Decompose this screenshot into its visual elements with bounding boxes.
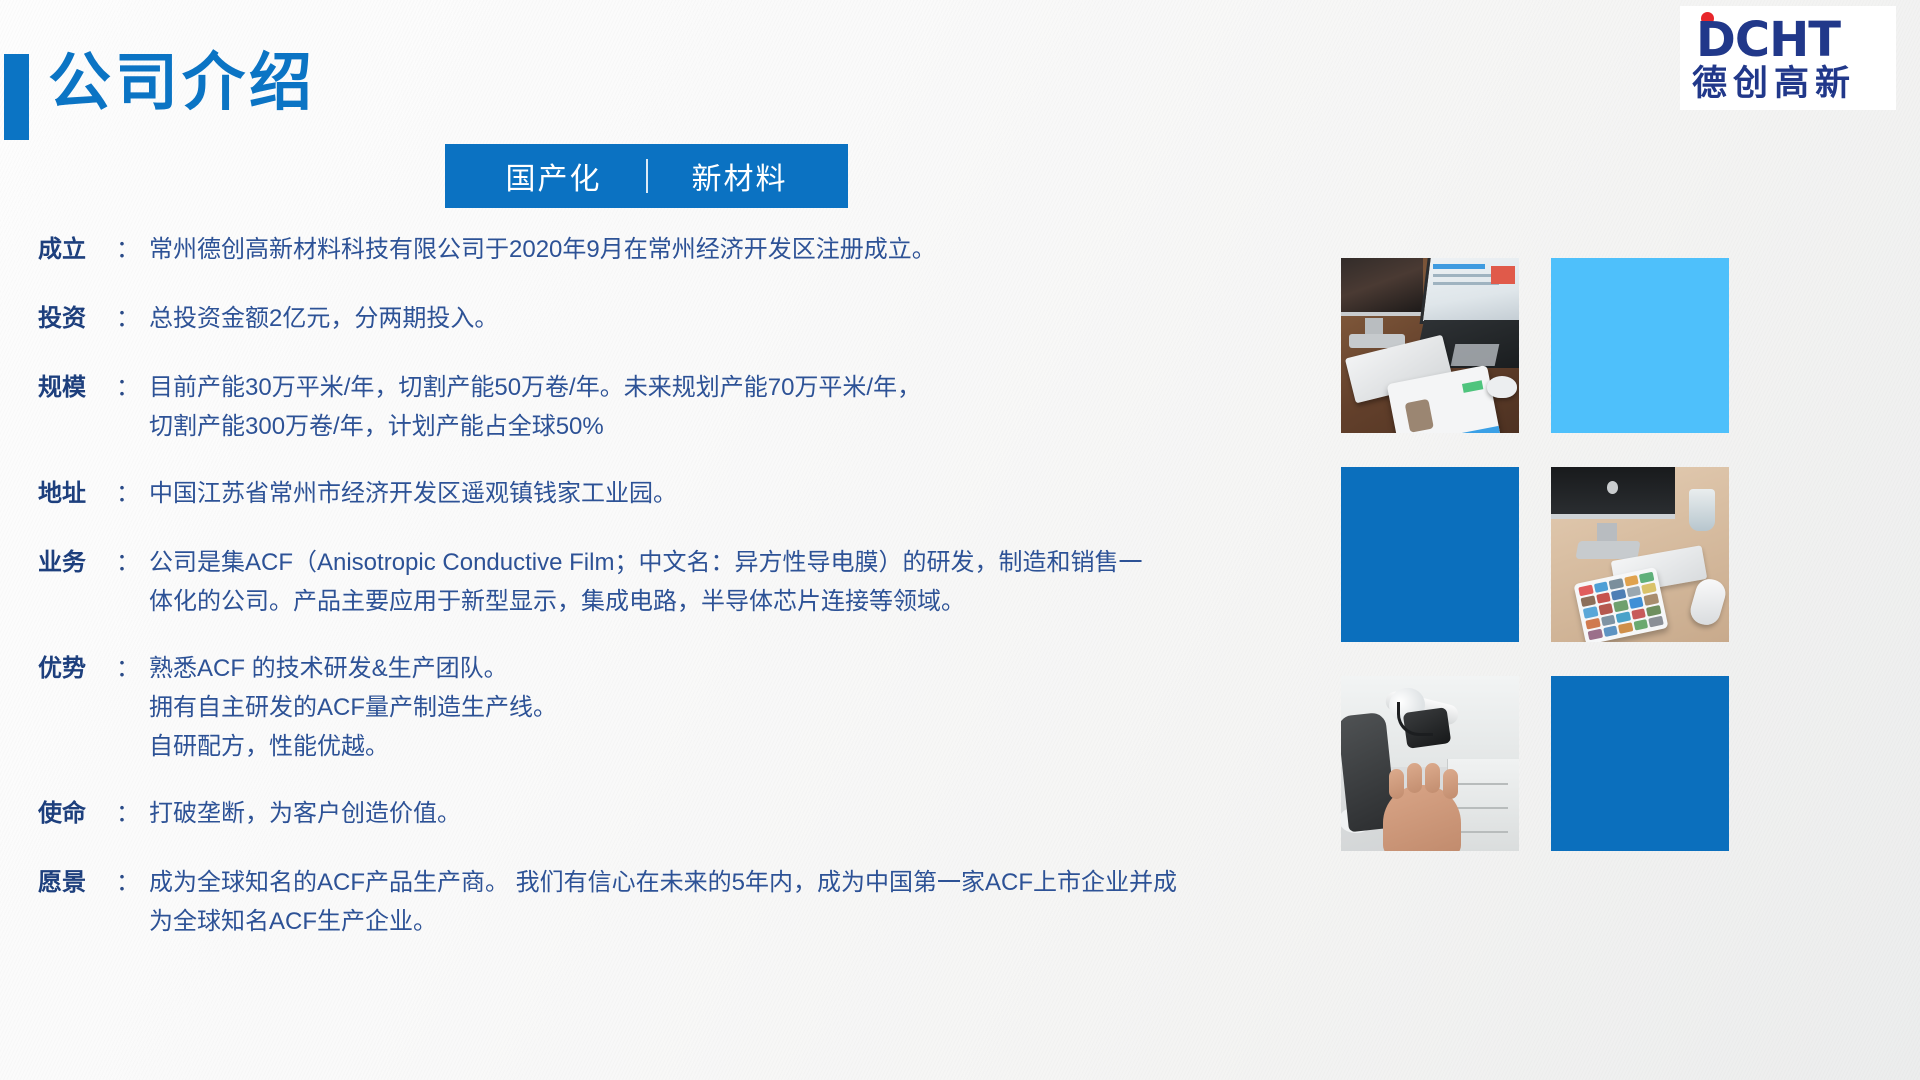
info-row-label: 地址 xyxy=(38,474,116,513)
info-row-label: 使命 xyxy=(38,794,116,833)
info-row-line: 拥有自主研发的ACF量产制造生产线。 xyxy=(149,688,1298,727)
tablet-ui-button xyxy=(1462,380,1483,393)
info-row: 业务 ： 公司是集ACF（Anisotropic Conductive Film… xyxy=(38,543,1298,621)
banner-left-text: 国产化 xyxy=(506,154,602,198)
info-row-body: 成为全球知名的ACF产品生产商。 我们有信心在未来的5年内，成为中国第一家ACF… xyxy=(149,863,1298,941)
info-row: 投资 ： 总投资金额2亿元，分两期投入。 xyxy=(38,299,1298,338)
desk-workspace-photo xyxy=(1341,258,1519,433)
logo-mark: DCHT xyxy=(1692,10,1890,62)
info-row-label: 业务 xyxy=(38,543,116,582)
info-row-body: 总投资金额2亿元，分两期投入。 xyxy=(149,299,1298,338)
info-row-colon: ： xyxy=(116,543,149,582)
mouse-shape xyxy=(1687,576,1729,628)
tablet-ui-figure xyxy=(1405,399,1434,433)
info-row-line: 体化的公司。产品主要应用于新型显示，集成电路，半导体芯片连接等领域。 xyxy=(149,582,1298,621)
blue-block xyxy=(1341,467,1519,642)
tagline-banner: 国产化 新材料 xyxy=(445,144,848,208)
info-row-line: 目前产能30万平米/年，切割产能50万卷/年。未来规划产能70万平米/年， xyxy=(149,368,1298,407)
imac-foot-shape xyxy=(1575,541,1640,559)
info-row-colon: ： xyxy=(116,649,149,688)
imac-desk-photo xyxy=(1551,467,1729,642)
logo-chinese-name: 德创高新 xyxy=(1692,64,1890,104)
info-row-body: 目前产能30万平米/年，切割产能50万卷/年。未来规划产能70万平米/年， 切割… xyxy=(149,368,1298,446)
info-row: 优势 ： 熟悉ACF 的技术研发&生产团队。 拥有自主研发的ACF量产制造生产线… xyxy=(38,649,1298,766)
apple-logo-icon xyxy=(1607,481,1618,494)
laptop-ui-bar xyxy=(1433,282,1499,285)
info-row: 规模 ： 目前产能30万平米/年，切割产能50万卷/年。未来规划产能70万平米/… xyxy=(38,368,1298,446)
info-row: 地址 ： 中国江苏省常州市经济开发区遥观镇钱家工业园。 xyxy=(38,474,1298,513)
info-row-label: 投资 xyxy=(38,299,116,338)
imac-screen-shape xyxy=(1341,258,1423,316)
info-row-line: 常州德创高新材料科技有限公司于2020年9月在常州经济开发区注册成立。 xyxy=(149,230,1298,269)
laptop-trackpad-shape xyxy=(1451,344,1500,366)
info-row: 愿景 ： 成为全球知名的ACF产品生产商。 我们有信心在未来的5年内，成为中国第… xyxy=(38,863,1298,941)
info-row: 使命 ： 打破垄断，为客户创造价值。 xyxy=(38,794,1298,833)
info-row-colon: ： xyxy=(116,368,149,407)
image-grid xyxy=(1341,258,1781,851)
info-row-body: 中国江苏省常州市经济开发区遥观镇钱家工业园。 xyxy=(149,474,1298,513)
laptop-ui-bar xyxy=(1433,264,1485,269)
blue-block xyxy=(1551,676,1729,851)
info-row-colon: ： xyxy=(116,794,149,833)
info-row-line: 中国江苏省常州市经济开发区遥观镇钱家工业园。 xyxy=(149,474,1298,513)
info-row-body: 公司是集ACF（Anisotropic Conductive Film；中文名：… xyxy=(149,543,1298,621)
hand-shape xyxy=(1383,785,1461,851)
info-row-line: 熟悉ACF 的技术研发&生产团队。 xyxy=(149,649,1298,688)
tablet-shape xyxy=(1573,567,1668,642)
info-row-label: 愿景 xyxy=(38,863,116,902)
title-accent-bar xyxy=(4,54,29,140)
info-row-colon: ： xyxy=(116,474,149,513)
info-row-body: 常州德创高新材料科技有限公司于2020年9月在常州经济开发区注册成立。 xyxy=(149,230,1298,269)
info-row-colon: ： xyxy=(116,299,149,338)
light-blue-block xyxy=(1551,258,1729,433)
water-glass-shape xyxy=(1689,489,1715,531)
info-row-line: 成为全球知名的ACF产品生产商。 我们有信心在未来的5年内，成为中国第一家ACF… xyxy=(149,863,1298,902)
info-row-label: 规模 xyxy=(38,368,116,407)
info-row-line: 为全球知名ACF生产企业。 xyxy=(149,902,1298,941)
mouse-shape xyxy=(1487,376,1517,398)
page-title: 公司介绍 xyxy=(48,46,316,122)
info-row-line: 自研配方，性能优越。 xyxy=(149,727,1298,766)
info-row-line: 打破垄断，为客户创造价值。 xyxy=(149,794,1298,833)
info-row-body: 熟悉ACF 的技术研发&生产团队。 拥有自主研发的ACF量产制造生产线。 自研配… xyxy=(149,649,1298,766)
info-row-colon: ： xyxy=(116,863,149,902)
info-row-line: 总投资金额2亿元，分两期投入。 xyxy=(149,299,1298,338)
info-row-line: 公司是集ACF（Anisotropic Conductive Film；中文名：… xyxy=(149,543,1298,582)
company-logo: DCHT 德创高新 xyxy=(1680,6,1896,110)
info-row-line: 切割产能300万卷/年，计划产能占全球50% xyxy=(149,407,1298,446)
info-row-label: 成立 xyxy=(38,230,116,269)
banner-right-text: 新材料 xyxy=(692,154,788,198)
info-row: 成立 ： 常州德创高新材料科技有限公司于2020年9月在常州经济开发区注册成立。 xyxy=(38,230,1298,269)
laptop-ui-block xyxy=(1491,266,1515,284)
banner-separator xyxy=(646,159,648,193)
info-row-body: 打破垄断，为客户创造价值。 xyxy=(149,794,1298,833)
info-row-label: 优势 xyxy=(38,649,116,688)
logo-letters: DCHT xyxy=(1696,18,1840,62)
company-info-list: 成立 ： 常州德创高新材料科技有限公司于2020年9月在常州经济开发区注册成立。… xyxy=(38,230,1298,971)
info-row-colon: ： xyxy=(116,230,149,269)
clinic-equipment-photo xyxy=(1341,676,1519,851)
